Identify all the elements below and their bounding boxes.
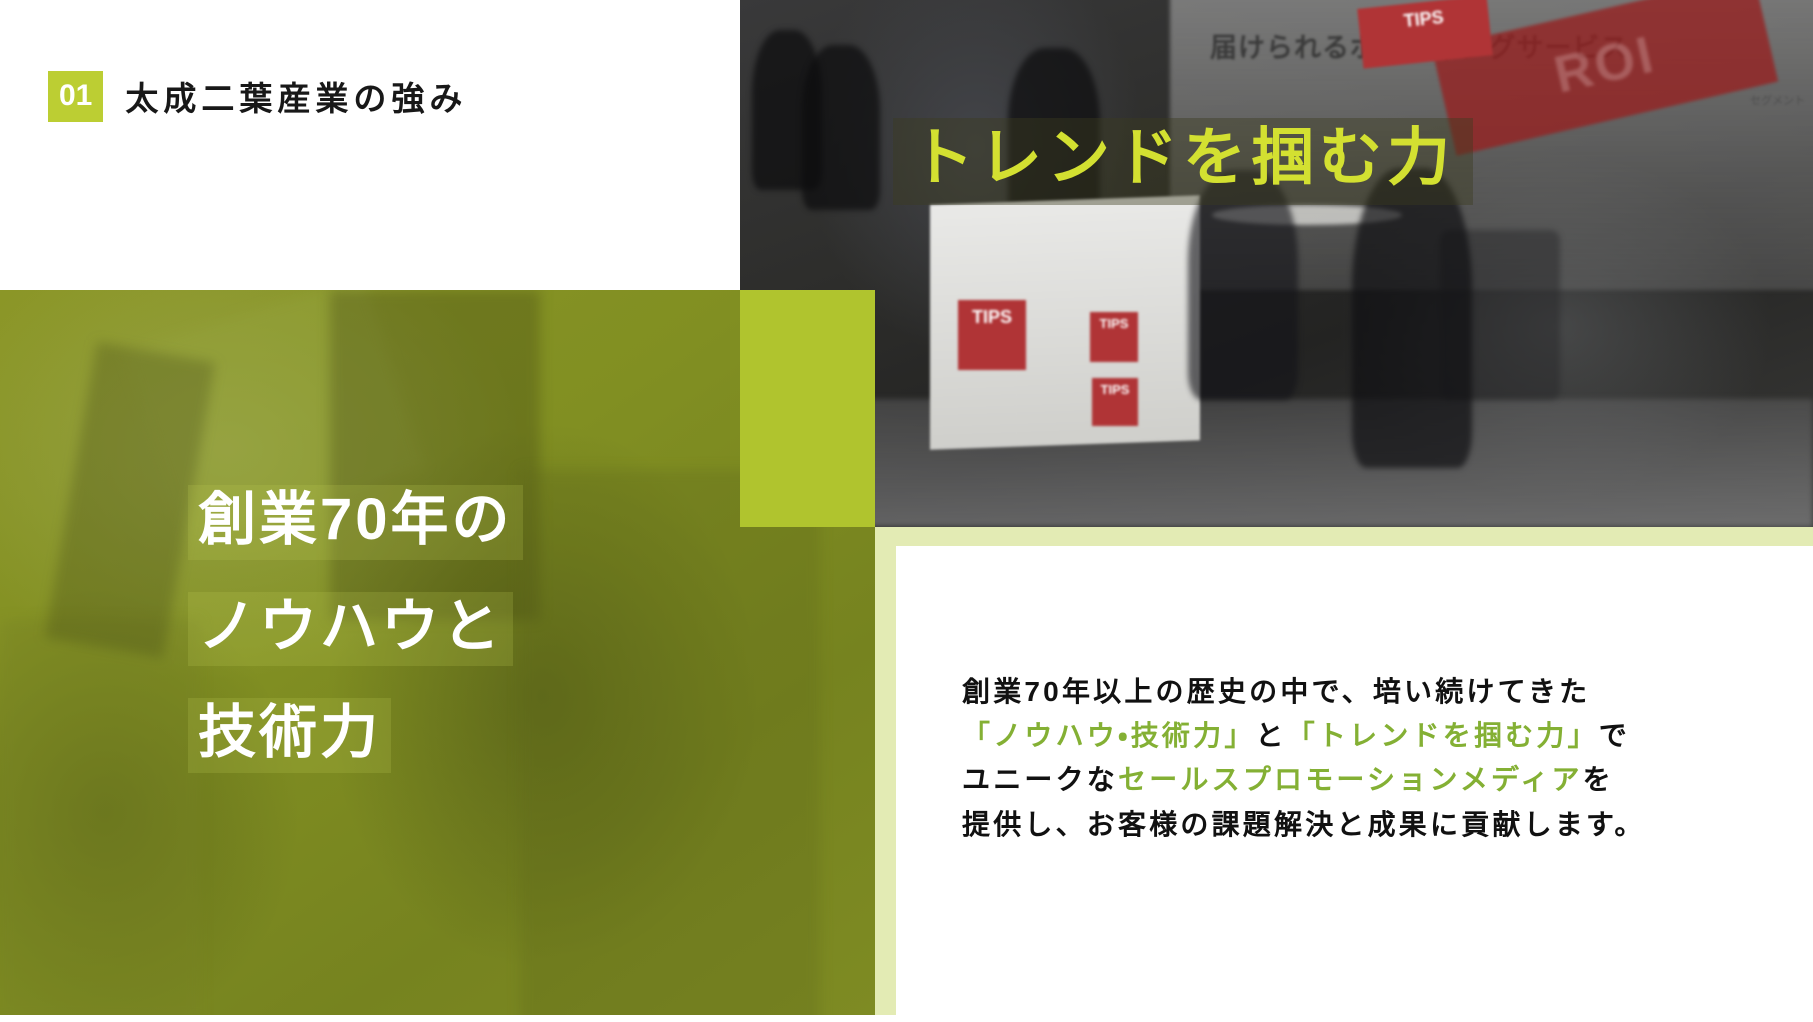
body-copy-plain: 提供し、お客様の課題解決と成果に貢献します。 [962,809,1646,840]
machinery-shape-3 [0,620,200,1015]
body-copy-plain: 創業70年以上の歴史の中で、培い続けてきた [962,676,1590,707]
section-number-badge: 01 [48,71,103,122]
panel-heading-line: 創業70年の [188,485,523,560]
photo-tips-logo-2: TIPS [1090,312,1138,362]
page-title: 太成二葉産業の強み [125,72,467,120]
panel-heading-line: ノウハウと [188,592,513,667]
body-copy-plain: で [1599,720,1630,751]
body-copy-accent: セールスプロモーションメディア [1118,764,1583,795]
bottom-white-edge [0,1015,1813,1022]
body-copy-accent: 「ノウハウ・技術力」 [962,720,1256,751]
panel-heading: 創業70年の ノウハウと 技術力 [188,485,523,773]
body-copy-plain: ユニークな [962,764,1118,795]
body-copy-plain: を [1583,764,1614,795]
body-copy-line: 創業70年以上の歴史の中で、培い続けてきた [962,670,1722,714]
photo-tips-logo-1: TIPS [958,300,1026,370]
header-inner: 01 太成二葉産業の強み [48,50,467,142]
photo-small-label-2 [1752,195,1796,214]
body-copy-line: 提供し、お客様の課題解決と成果に貢献します。 [962,803,1722,847]
photo-person-5 [1352,168,1472,468]
machinery-shape-4 [520,470,820,1015]
photo-title-band: トレンドを掴む力 [893,118,1473,205]
photo-person-2 [802,45,880,210]
body-copy-plain: と [1256,720,1287,751]
body-copy-line: ユニークなセールスプロモーションメディアを [962,758,1722,802]
body-copy: 創業70年以上の歴史の中で、培い続けてきた 「ノウハウ・技術力」と「トレンドを掴… [962,670,1722,847]
photo-tips-logo-3: TIPS [1092,378,1138,426]
slide-canvas: 届けられるポスティングサービス ROI セグメント TIPS TIPS TIPS… [0,0,1813,1022]
body-copy-accent: 「トレンドを掴む力」 [1287,720,1599,751]
photo-small-label-1: セグメント [1750,92,1805,111]
photo-title-text: トレンドを掴む力 [911,124,1455,193]
photo-floor [740,399,1813,527]
panel-heading-line: 技術力 [188,698,391,773]
exhibition-booth-photo: 届けられるポスティングサービス ROI セグメント TIPS TIPS TIPS… [740,0,1813,527]
header: 01 太成二葉産業の強み [0,0,740,253]
body-copy-line: 「ノウハウ・技術力」と「トレンドを掴む力」で [962,714,1722,758]
light-green-band [875,527,1813,546]
light-green-divider-strip [875,527,896,1015]
accent-green-block [740,290,875,527]
